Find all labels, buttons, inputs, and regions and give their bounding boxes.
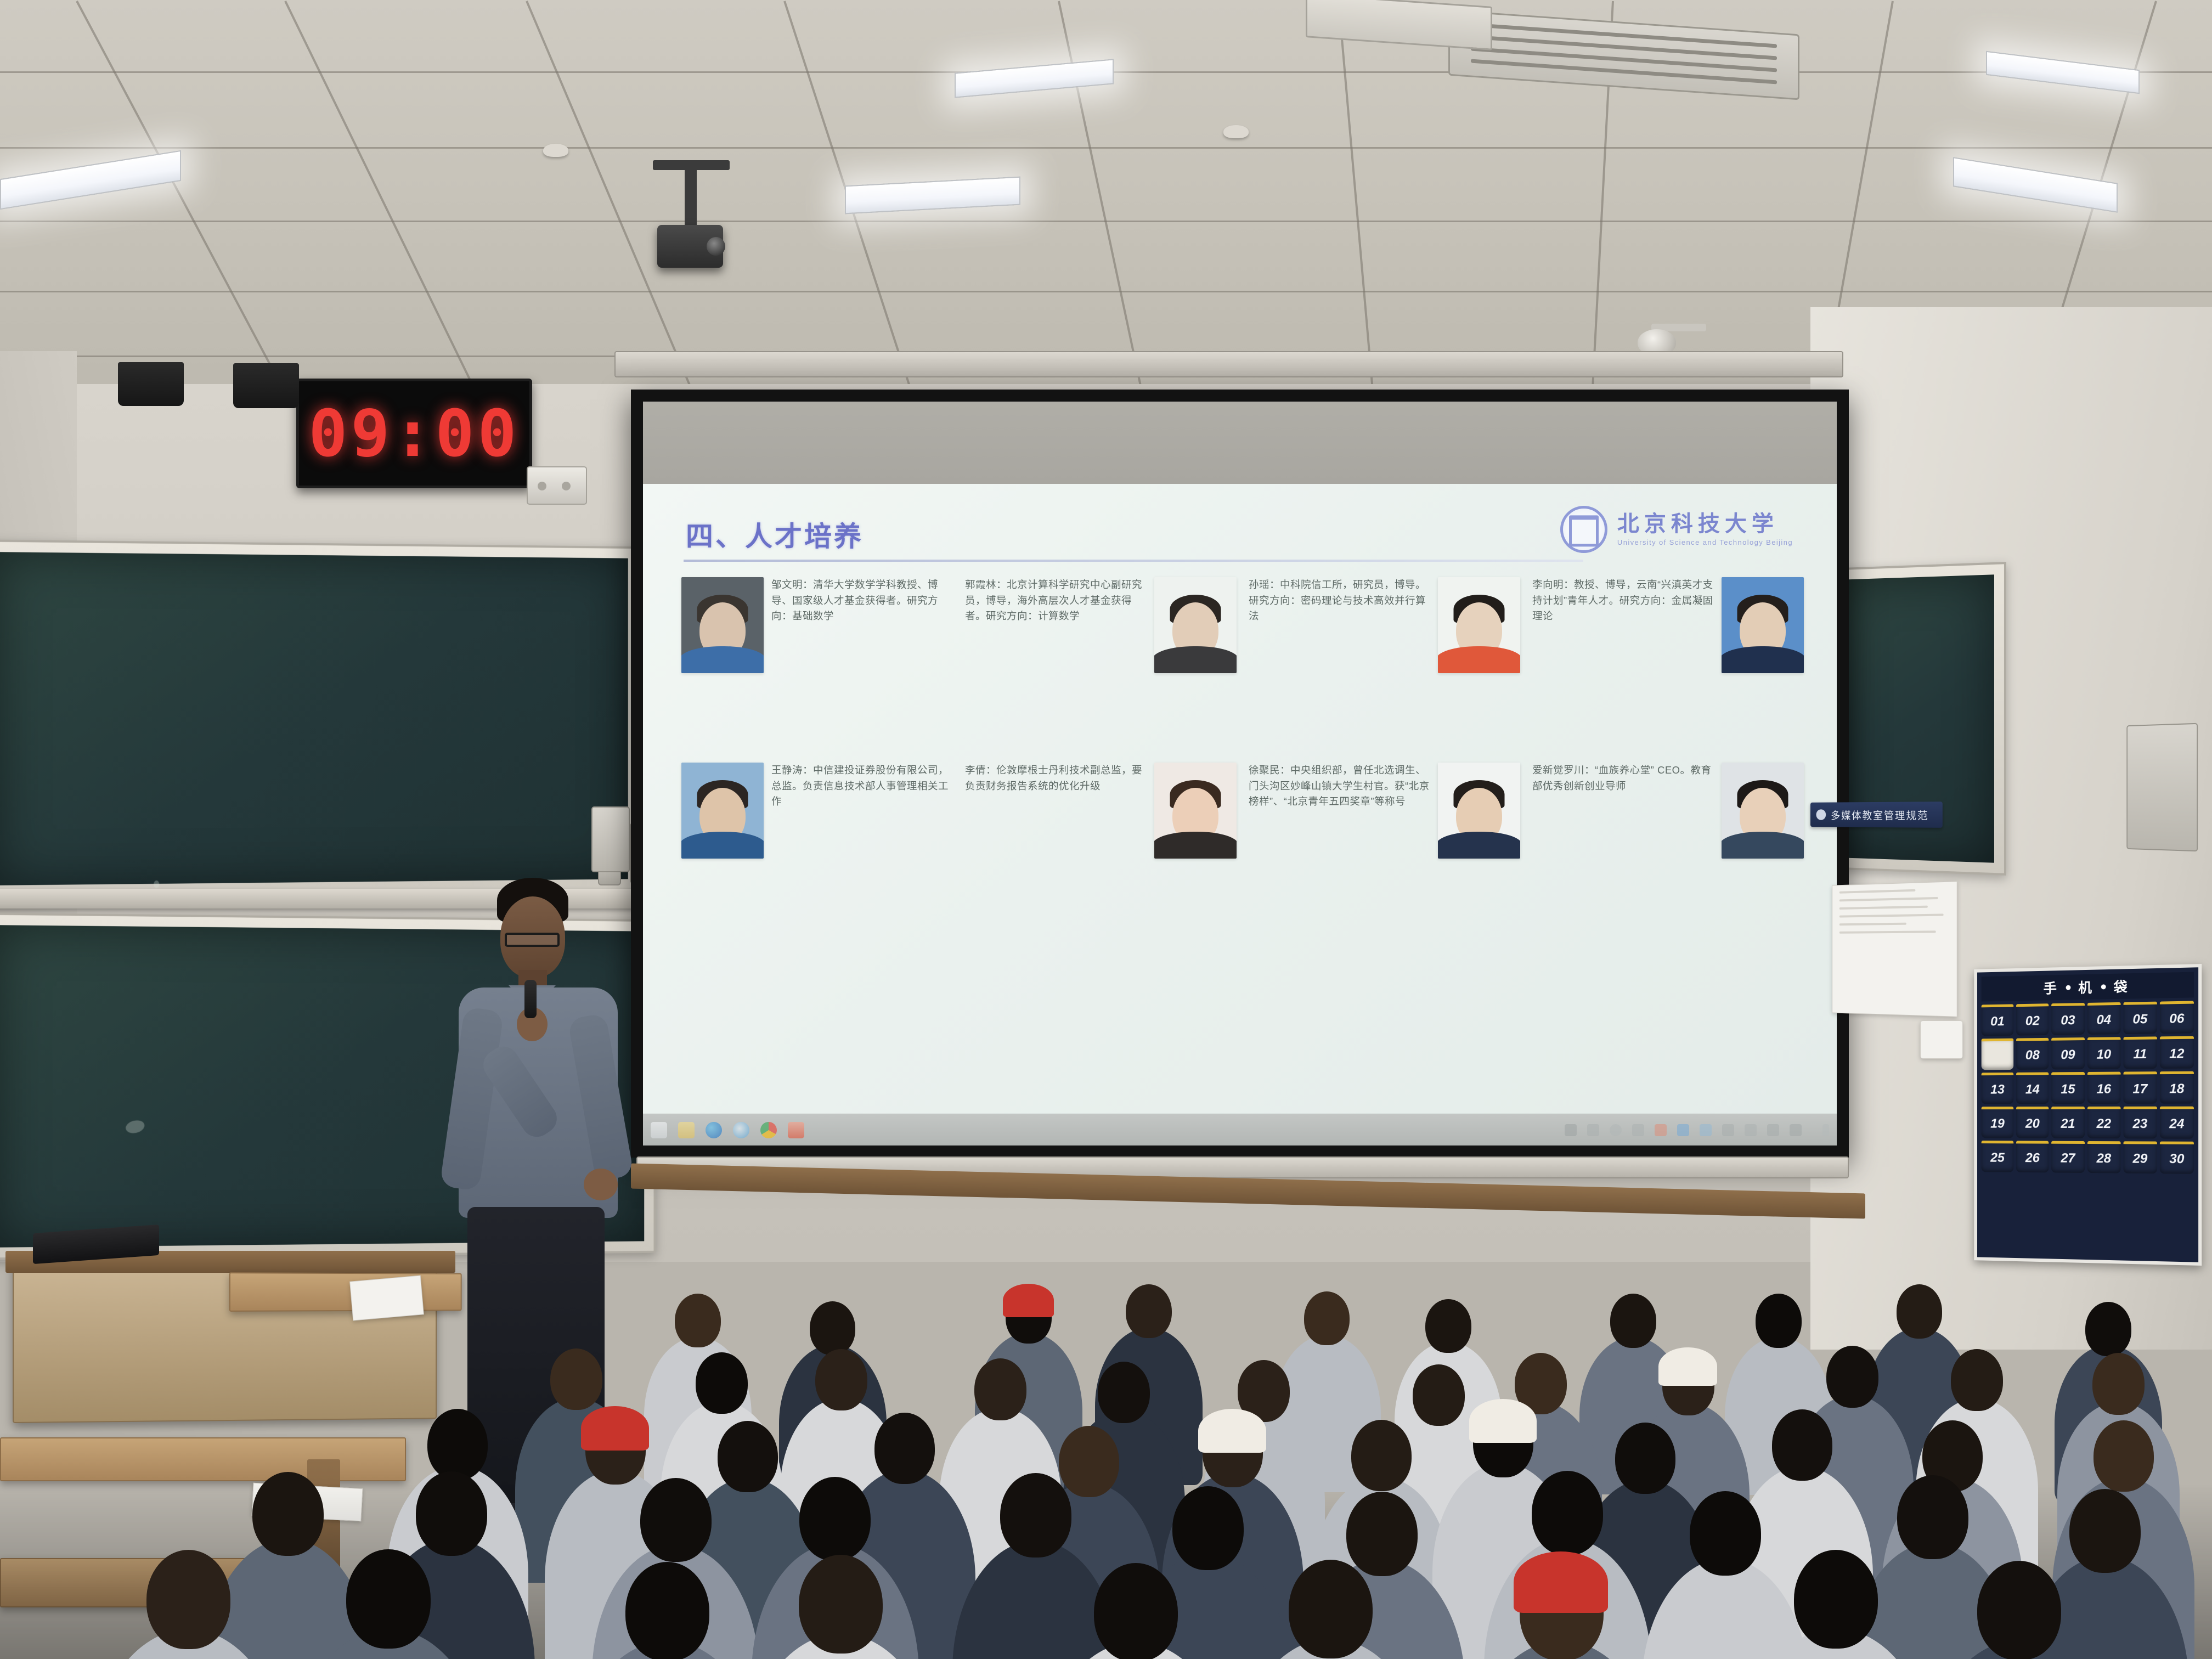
audience-member	[316, 1549, 461, 1659]
audience-head	[696, 1352, 748, 1414]
audience-head	[1098, 1362, 1150, 1423]
show-desktop-icon[interactable]	[1822, 1124, 1829, 1136]
phone-pocket[interactable]: 25	[1982, 1141, 2014, 1172]
portrait-clothing	[681, 646, 764, 673]
phone-pocket[interactable]: 24	[2160, 1107, 2194, 1139]
audience-head	[252, 1472, 324, 1556]
phone-pocket[interactable]: 01	[1982, 1004, 2014, 1036]
projector-lens-icon	[707, 237, 725, 256]
ceiling-light	[1986, 51, 2140, 94]
alumni-entry: 邹文明：清华大学数学学科教授、博导、国家级人才基金获得者。研究方向：基础数学	[681, 577, 953, 753]
phone-pocket[interactable]: 02	[2016, 1003, 2049, 1035]
pocket-chart-row: 131415161718	[1982, 1071, 2194, 1104]
blackboard-right	[1832, 562, 2006, 876]
paper-on-desk	[349, 1275, 424, 1321]
screen-letterbox	[643, 402, 1837, 484]
slide-title-rule	[684, 560, 1583, 562]
audience-head	[1690, 1491, 1761, 1575]
audience-head	[1977, 1561, 2061, 1659]
portrait-clothing	[1438, 646, 1520, 673]
projection-screen-case	[614, 351, 1843, 377]
portrait-clothing	[681, 832, 764, 859]
portrait-clothing	[1438, 832, 1520, 859]
alumni-portrait-photo	[1438, 577, 1520, 673]
wall-speaker	[527, 466, 587, 505]
screen-icon[interactable]	[1700, 1124, 1712, 1136]
microphone-icon	[524, 980, 537, 1018]
phone-pocket[interactable]: 28	[2087, 1141, 2120, 1173]
phone-pocket[interactable]: 18	[2160, 1071, 2194, 1104]
projection-screen: 四、人才培养 北京科技大学 University of Science and …	[631, 390, 1849, 1158]
air-conditioner-vent	[1448, 10, 1799, 100]
portrait-clothing	[1154, 832, 1237, 859]
audience-head	[550, 1348, 602, 1410]
edge-icon[interactable]	[706, 1122, 722, 1138]
phone-pocket[interactable]: 30	[2160, 1142, 2194, 1174]
phone-pocket[interactable]: 27	[2051, 1141, 2084, 1173]
audience-head	[346, 1549, 430, 1649]
phone-pocket[interactable]: 21	[2051, 1107, 2084, 1138]
phone-pocket[interactable]: 11	[2123, 1036, 2157, 1069]
alumni-portrait-photo	[1154, 577, 1237, 673]
alumni-entry: 孙瑶：中科院信工所，研究员，博导。研究方向：密码理论与技术高效并行算法	[1249, 577, 1520, 753]
pocket-chart-title-char: 手	[2043, 978, 2058, 997]
classroom-photo-scene: 09:00 四、人才培养	[0, 0, 2212, 1659]
audience-head	[1289, 1560, 1373, 1659]
audience-cap	[1198, 1409, 1266, 1453]
smoke-detector-icon	[543, 144, 568, 157]
alumni-bio-text: 邹文明：清华大学数学学科教授、博导、国家级人才基金获得者。研究方向：基础数学	[771, 577, 953, 753]
phone-pocket[interactable]	[1982, 1039, 2014, 1070]
audience-head	[1094, 1563, 1178, 1659]
university-logo: 北京科技大学 University of Science and Technol…	[1560, 506, 1793, 553]
audience-cap	[1514, 1551, 1607, 1613]
taskbar-system-tray[interactable]	[1565, 1124, 1829, 1136]
alumni-bio-text: 孙瑶：中科院信工所，研究员，博导。研究方向：密码理论与技术高效并行算法	[1249, 577, 1430, 753]
powerpoint-slide: 四、人才培养 北京科技大学 University of Science and …	[643, 484, 1837, 1114]
audience-cap	[1658, 1347, 1717, 1386]
phone-pocket[interactable]: 22	[2087, 1107, 2120, 1138]
alumni-bio-text: 徐聚民：中央组织部，曾任北选调生、门头沟区妙峰山镇大学生村官。获“北京榜样”、“…	[1249, 763, 1430, 938]
pocket-chart-row: 192021222324	[1982, 1107, 2194, 1139]
phone-pocket[interactable]: 09	[2051, 1037, 2084, 1069]
file-explorer-icon[interactable]	[678, 1122, 695, 1138]
university-seal-icon	[1560, 506, 1607, 553]
pen-icon[interactable]	[1565, 1124, 1577, 1136]
audience-head	[2092, 1353, 2145, 1414]
mail-icon[interactable]	[1745, 1124, 1757, 1136]
alumni-portrait-photo	[1438, 763, 1520, 859]
audience-member	[769, 1555, 913, 1659]
blackboard-left	[0, 539, 640, 898]
sign-text: 多媒体教室管理规范	[1831, 807, 1929, 822]
windows-desktop: 四、人才培养 北京科技大学 University of Science and …	[643, 484, 1837, 1145]
audience-head	[625, 1562, 709, 1659]
windows-taskbar[interactable]	[643, 1114, 1837, 1145]
phone-pocket[interactable]: 12	[2160, 1036, 2194, 1069]
projection-screen-surface: 四、人才培养 北京科技大学 University of Science and …	[643, 402, 1837, 1145]
alumni-bio-text: 王静涛：中信建投证券股份有限公司，总监。负责信息技术部人事管理相关工作	[771, 763, 953, 938]
audience-member	[1489, 1561, 1634, 1659]
alumni-entry: 爱新觉罗川：“血族养心堂” CEO。教育部优秀创新创业导师	[1532, 763, 1804, 938]
audience-head	[1610, 1294, 1656, 1348]
audience-head	[815, 1349, 867, 1410]
wps-icon[interactable]	[788, 1122, 804, 1138]
audience-head	[2093, 1420, 2154, 1492]
phone-pocket[interactable]: 13	[1982, 1073, 2014, 1104]
audience-head	[1172, 1486, 1244, 1570]
alumni-portrait-photo	[1154, 763, 1237, 859]
projector-arm	[653, 160, 730, 170]
pocket-chart-title-char: 机	[2078, 977, 2093, 997]
audience-head	[1772, 1409, 1832, 1481]
chat-icon[interactable]	[1722, 1124, 1734, 1136]
audience-head	[1897, 1475, 1968, 1559]
audience-member	[595, 1562, 740, 1659]
audience-head	[1826, 1346, 1878, 1407]
ceiling-light	[955, 59, 1114, 98]
phone-pocket[interactable]: 10	[2087, 1037, 2120, 1069]
audience-member	[1259, 1560, 1403, 1659]
portrait-clothing	[1154, 646, 1237, 673]
wall-notice-paper	[1832, 881, 1957, 1017]
audience-head	[640, 1478, 712, 1562]
pocket-chart-title-dot	[2101, 984, 2106, 989]
audience-cap	[581, 1406, 648, 1451]
ceiling-light	[1953, 157, 2118, 213]
audience-head	[799, 1555, 883, 1654]
chrome-icon[interactable]	[760, 1122, 777, 1138]
ceiling-light	[0, 150, 181, 210]
air-vent-small	[1306, 0, 1492, 50]
pocket-chart-row: 252627282930	[1982, 1141, 2194, 1174]
logo-name-cn: 北京科技大学	[1617, 513, 1793, 535]
presenter-glasses-icon	[505, 933, 560, 947]
clock-time: 09:00	[308, 396, 520, 471]
phone-pocket[interactable]: 03	[2051, 1003, 2084, 1035]
phone-pocket[interactable]: 17	[2123, 1071, 2157, 1104]
alumni-portrait-photo	[1722, 763, 1804, 859]
wall-speaker-right	[2126, 723, 2198, 851]
slide-title: 四、人才培养	[686, 515, 864, 554]
alumni-entry: 李倩：伦敦摩根士丹利技术副总监，要负责财务报告系统的优化升级	[965, 763, 1237, 938]
sign-bullet-icon	[1816, 809, 1826, 820]
blue-app-icon[interactable]	[1677, 1124, 1689, 1136]
wall-speaker-left	[591, 806, 630, 872]
pocket-chart-title-dot	[2066, 985, 2071, 990]
pocket-chart-title: 手机袋	[1982, 972, 2194, 1002]
audience-head	[1000, 1473, 1071, 1557]
audience-head	[427, 1409, 488, 1480]
pocket-chart-title-char: 袋	[2114, 976, 2129, 996]
ceiling-speaker	[233, 363, 299, 408]
phone-pocket[interactable]: 08	[2016, 1038, 2049, 1070]
ceiling-light	[845, 177, 1020, 215]
phone-pocket[interactable]: 29	[2123, 1141, 2157, 1173]
smoke-detector-icon	[1223, 125, 1249, 138]
audience-head	[1794, 1550, 1878, 1649]
projector-arm	[685, 165, 697, 230]
ceiling-speaker	[118, 362, 184, 406]
classroom-rules-sign: 多媒体教室管理规范	[1810, 802, 1943, 828]
portrait-clothing	[1722, 646, 1804, 673]
taskbar-pinned-apps[interactable]	[651, 1122, 804, 1138]
audience-head	[1951, 1349, 2003, 1410]
phone-pocket[interactable]: 04	[2087, 1002, 2120, 1035]
phone-pocket[interactable]: 19	[1982, 1107, 2014, 1138]
phone-pocket[interactable]: 15	[2051, 1072, 2084, 1104]
alumni-portrait-photo	[681, 577, 764, 673]
audience-cap	[1003, 1284, 1054, 1317]
audience-cap	[1469, 1399, 1537, 1443]
blackboard-surface	[0, 552, 628, 885]
browser-icon[interactable]	[733, 1122, 749, 1138]
audience-head	[2085, 1302, 2131, 1356]
audience-member	[116, 1550, 261, 1659]
audience-head	[146, 1550, 230, 1649]
alumni-bio-text: 郭霞林：北京计算科学研究中心副研究员，博导，海外高层次人才基金获得者。研究方向：…	[965, 577, 1147, 753]
alumni-entry: 李向明：教授、博导，云南“兴滇英才支持计划”青年人才。研究方向：金属凝固理论	[1532, 577, 1804, 753]
phone-pocket[interactable]: 26	[2016, 1141, 2049, 1172]
alumni-portrait-photo	[1722, 577, 1804, 673]
alumni-portrait-photo	[681, 763, 764, 859]
alumni-bio-text: 李向明：教授、博导，云南“兴滇英才支持计划”青年人才。研究方向：金属凝固理论	[1532, 577, 1714, 753]
audience-member	[1947, 1561, 2092, 1659]
pocket-chart-row: 0809101112	[1982, 1036, 2194, 1070]
pocket-chart-rows: 0102030405060809101112131415161718192021…	[1982, 1001, 2194, 1173]
document-icon[interactable]	[1587, 1124, 1599, 1136]
pdf-icon[interactable]	[1655, 1124, 1667, 1136]
alumni-entry: 王静涛：中信建投证券股份有限公司，总监。负责信息技术部人事管理相关工作	[681, 763, 953, 938]
phone-pocket[interactable]: 23	[2123, 1107, 2157, 1139]
audience-member	[1764, 1550, 1909, 1659]
pocket-chart-row: 010203040506	[1982, 1001, 2194, 1036]
star-icon[interactable]	[1632, 1124, 1644, 1136]
audience-head	[416, 1471, 487, 1555]
audience-head	[1126, 1284, 1172, 1339]
digital-wall-clock: 09:00	[296, 379, 532, 488]
windows-start-icon[interactable]	[651, 1122, 667, 1138]
audience-member	[1063, 1563, 1208, 1659]
alumni-entry: 徐聚民：中央组织部，曾任北选调生、门头沟区妙峰山镇大学生村官。获“北京榜样”、“…	[1249, 763, 1520, 938]
audience-head	[1351, 1420, 1412, 1491]
phone-pocket[interactable]: 14	[2016, 1072, 2049, 1104]
phone-pocket[interactable]: 05	[2123, 1002, 2157, 1034]
phone-pocket-chart: 手机袋 010203040506080910111213141516171819…	[1974, 964, 2202, 1266]
audience-head	[974, 1358, 1026, 1420]
alumni-bio-text: 爱新觉罗川：“血族养心堂” CEO。教育部优秀创新创业导师	[1532, 763, 1714, 938]
portrait-clothing	[1722, 832, 1804, 859]
alumni-bio-text: 李倩：伦敦摩根士丹利技术副总监，要负责财务报告系统的优化升级	[965, 763, 1147, 938]
phone-pocket[interactable]: 20	[2016, 1107, 2049, 1138]
audience-head	[874, 1413, 935, 1484]
phone-pocket[interactable]: 16	[2087, 1072, 2120, 1104]
audience-head	[1756, 1294, 1802, 1348]
audience-head	[1425, 1299, 1471, 1353]
alumni-grid: 邹文明：清华大学数学学科教授、博导、国家级人才基金获得者。研究方向：基础数学郭霞…	[681, 577, 1804, 938]
presenter-hand-right	[584, 1169, 618, 1200]
audience-head	[1532, 1471, 1603, 1555]
alumni-entry: 郭霞林：北京计算科学研究中心副研究员，博导，海外高层次人才基金获得者。研究方向：…	[965, 577, 1237, 753]
light-switch-panel[interactable]	[1920, 1020, 1963, 1059]
network-icon[interactable]	[1767, 1124, 1779, 1136]
audience-head	[675, 1294, 721, 1348]
audience-head	[810, 1301, 856, 1356]
phone-pocket[interactable]: 06	[2160, 1001, 2194, 1034]
logo-name-en: University of Science and Technology Bei…	[1617, 538, 1793, 546]
volume-icon[interactable]	[1790, 1124, 1802, 1136]
cloud-icon[interactable]	[1610, 1124, 1622, 1136]
audience-head	[799, 1477, 871, 1561]
audience-head	[1304, 1291, 1350, 1346]
audience-head	[1897, 1284, 1943, 1339]
